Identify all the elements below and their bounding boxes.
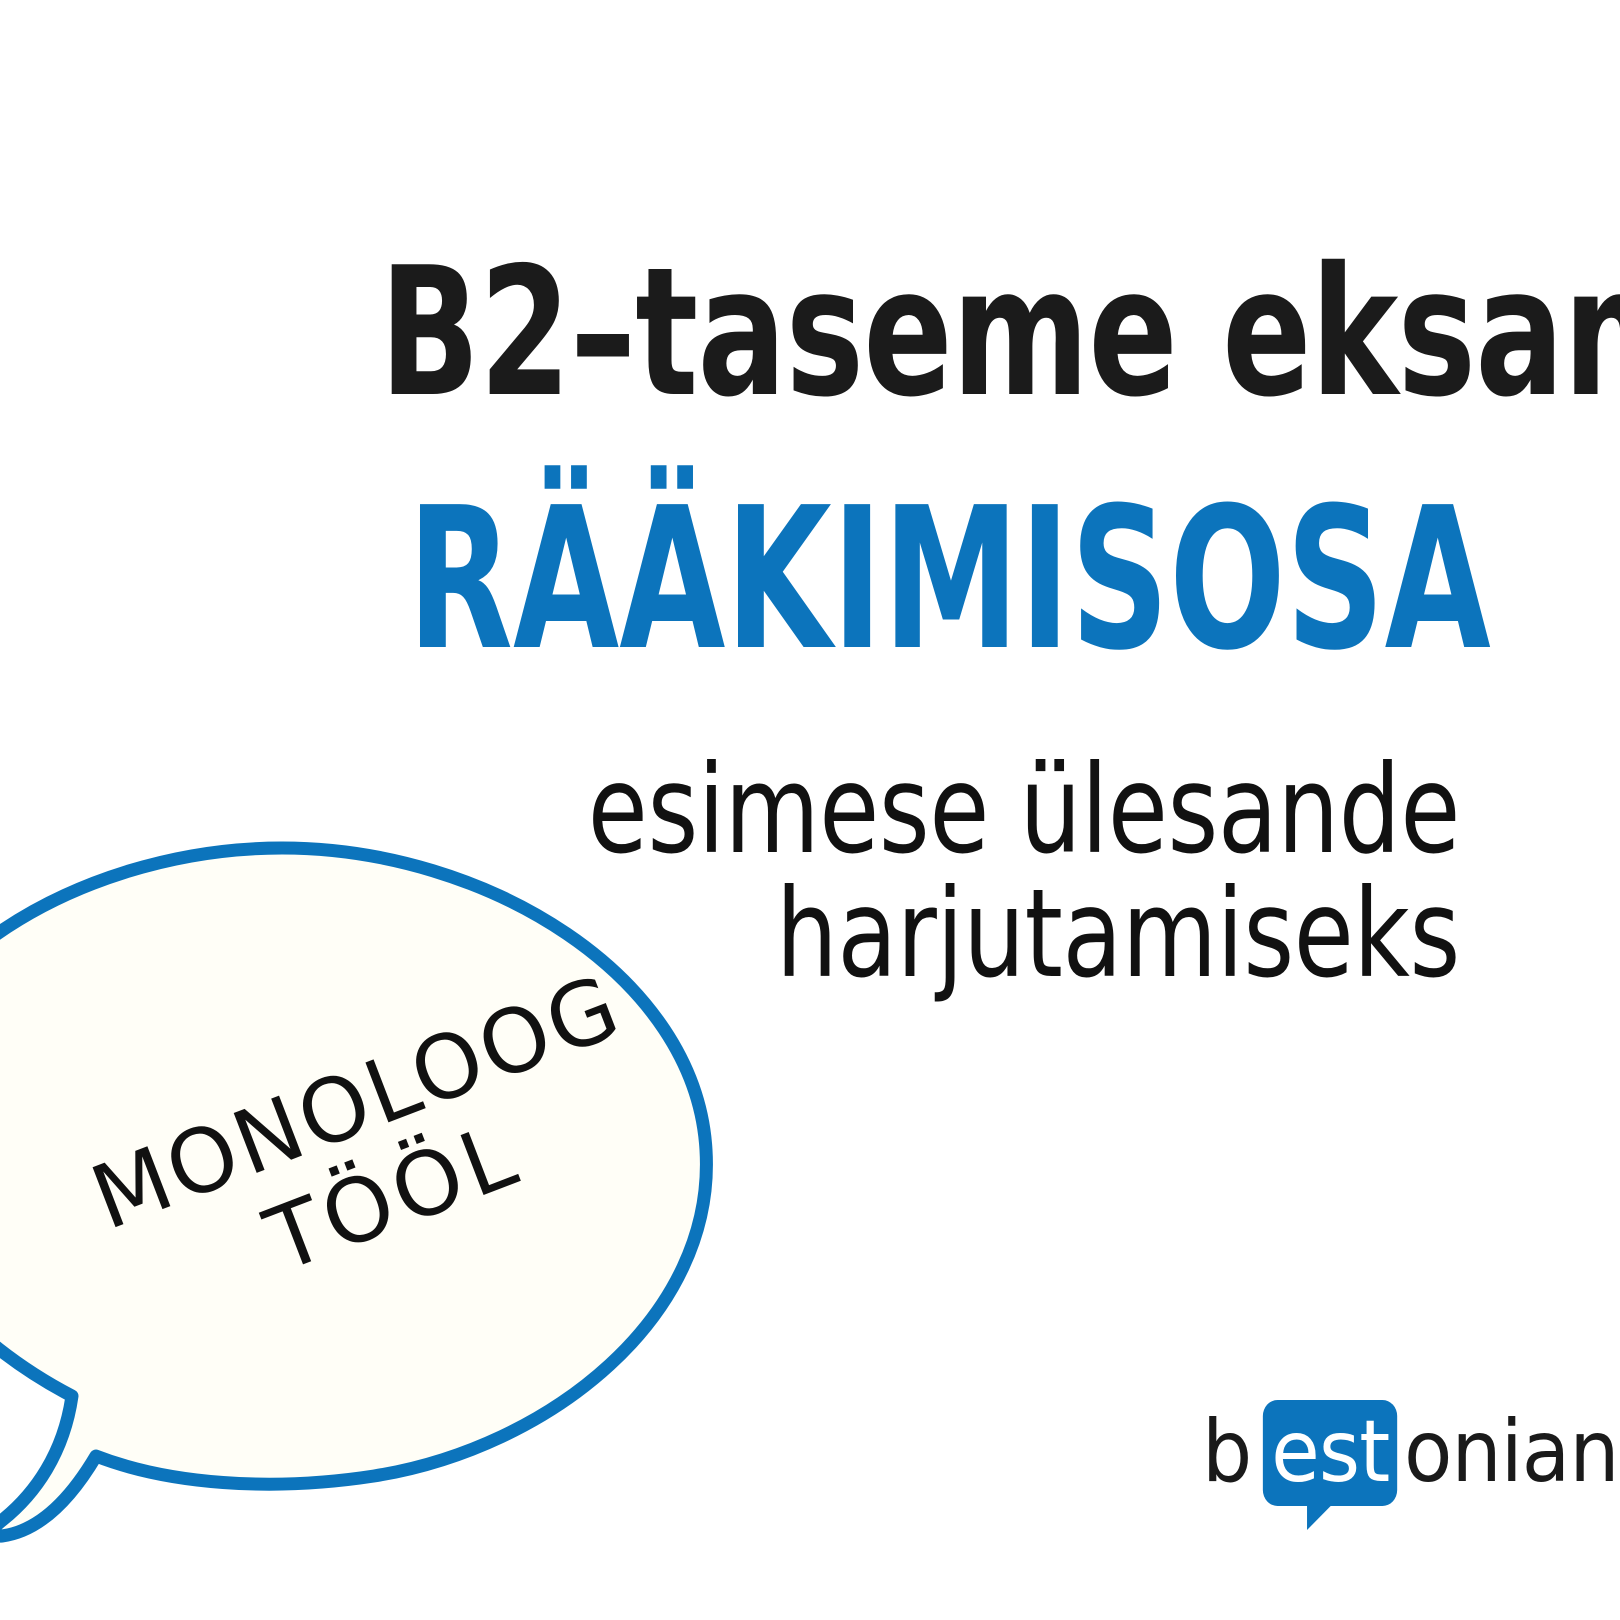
brand-logo[interactable]: b est onian xyxy=(1202,1400,1620,1506)
speech-bubble xyxy=(0,830,750,1550)
logo-badge-text: est xyxy=(1271,1409,1389,1495)
page-title-accent: RÄÄKIMISOSA xyxy=(407,482,1358,678)
logo-badge-tail-icon xyxy=(1307,1502,1335,1530)
poster-canvas: B2–taseme eksami RÄÄKIMISOSA esimese üle… xyxy=(0,0,1620,1620)
speech-bubble-icon xyxy=(0,830,750,1550)
logo-suffix: onian xyxy=(1404,1409,1619,1495)
headline-block: B2–taseme eksami RÄÄKIMISOSA esimese üle… xyxy=(0,0,1620,720)
page-title-main: B2–taseme eksami xyxy=(380,244,1460,422)
logo-prefix: b xyxy=(1202,1409,1251,1495)
logo-speech-bubble-icon: est xyxy=(1262,1400,1397,1506)
